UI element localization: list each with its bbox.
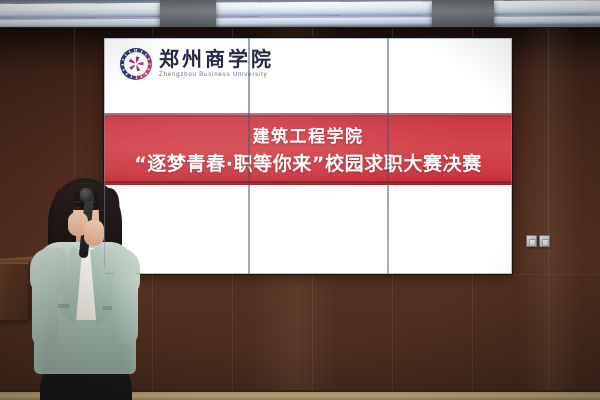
presenter-eye-left: [74, 206, 80, 209]
university-name-cn: 郑州商学院: [159, 49, 274, 69]
screen-surface: 郑州商学院 Zhengzhou Business University 建筑工程…: [104, 38, 512, 274]
switch-button[interactable]: [542, 239, 549, 246]
microphone-head-icon: [80, 188, 93, 202]
university-logo-text: 郑州商学院 Zhengzhou Business University: [159, 49, 274, 78]
video-wall-bezel-vertical: [387, 38, 389, 274]
video-wall-bezel-horizontal: [104, 181, 512, 183]
presenter-arm-left: [32, 268, 58, 346]
university-emblem-icon: [120, 48, 152, 80]
lectern: [0, 262, 28, 320]
ceiling: [0, 0, 600, 30]
ceiling-light-strip: [0, 0, 600, 18]
banner-text-group: 建筑工程学院 “逐梦青春·职等你来”校园求职大赛决赛: [104, 113, 512, 185]
slide-red-banner: 建筑工程学院 “逐梦青春·职等你来”校园求职大赛决赛: [104, 113, 512, 185]
banner-title-line1: 建筑工程学院: [253, 122, 364, 147]
university-logo: 郑州商学院 Zhengzhou Business University: [120, 48, 274, 80]
presenter: [26, 176, 144, 400]
wall-switch-right[interactable]: [539, 235, 550, 247]
ceiling-mount-right: [432, 0, 494, 30]
presenter-eyebrow-left: [73, 201, 81, 203]
video-wall-bezel-vertical: [248, 38, 250, 274]
wall-switch-left[interactable]: [526, 235, 537, 247]
presenter-arm-right: [112, 268, 138, 344]
wall-panel-seam: [548, 28, 549, 400]
video-wall-display[interactable]: 郑州商学院 Zhengzhou Business University 建筑工程…: [104, 38, 512, 274]
banner-title-line2: “逐梦青春·职等你来”校园求职大赛决赛: [134, 149, 482, 176]
slide-lower-white-area: [104, 185, 512, 274]
video-wall-bezel-horizontal: [104, 115, 512, 117]
photo-scene: 郑州商学院 Zhengzhou Business University 建筑工程…: [0, 0, 600, 400]
slide-upper-white-area: 郑州商学院 Zhengzhou Business University: [104, 38, 512, 113]
presenter-hand-right: [84, 220, 104, 246]
university-name-en: Zhengzhou Business University: [159, 72, 274, 78]
ceiling-mount-left: [160, 0, 216, 30]
switch-button[interactable]: [529, 239, 536, 246]
